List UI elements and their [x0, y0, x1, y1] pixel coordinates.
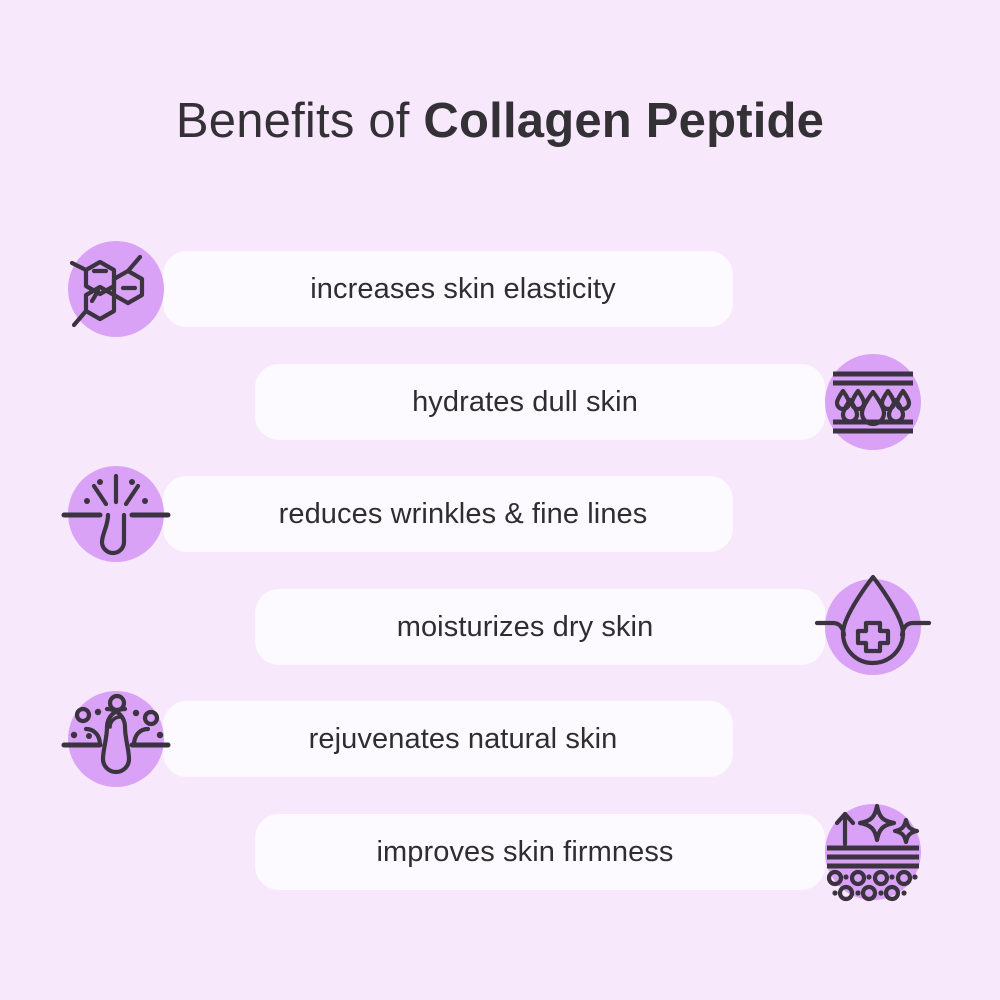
benefit-label-1: increases skin elasticity	[310, 273, 616, 306]
skin-hydration-droplets-icon	[825, 354, 921, 450]
benefit-label-4: moisturizes dry skin	[397, 611, 654, 644]
benefits-list: increases skin elasticity	[0, 0, 1000, 1000]
collagen-molecule-icon	[68, 241, 164, 337]
benefit-label-5: rejuvenates natural skin	[309, 723, 618, 756]
benefit-pill-1[interactable]: increases skin elasticity	[163, 251, 733, 327]
benefit-label-6: improves skin firmness	[376, 836, 673, 869]
skin-cell-regeneration-icon	[68, 691, 164, 787]
benefit-label-3: reduces wrinkles & fine lines	[279, 498, 648, 531]
benefit-pill-5[interactable]: rejuvenates natural skin	[163, 701, 733, 777]
skin-firmness-arrow-sparkle-icon	[825, 804, 921, 900]
benefit-pill-2[interactable]: hydrates dull skin	[255, 364, 825, 440]
infographic-page: Benefits of Collagen Peptide increases s…	[0, 0, 1000, 1000]
benefit-pill-3[interactable]: reduces wrinkles & fine lines	[163, 476, 733, 552]
droplet-plus-icon	[825, 579, 921, 675]
benefit-pill-6[interactable]: improves skin firmness	[255, 814, 825, 890]
skin-pore-rays-icon	[68, 466, 164, 562]
benefit-label-2: hydrates dull skin	[412, 386, 638, 419]
benefit-pill-4[interactable]: moisturizes dry skin	[255, 589, 825, 665]
